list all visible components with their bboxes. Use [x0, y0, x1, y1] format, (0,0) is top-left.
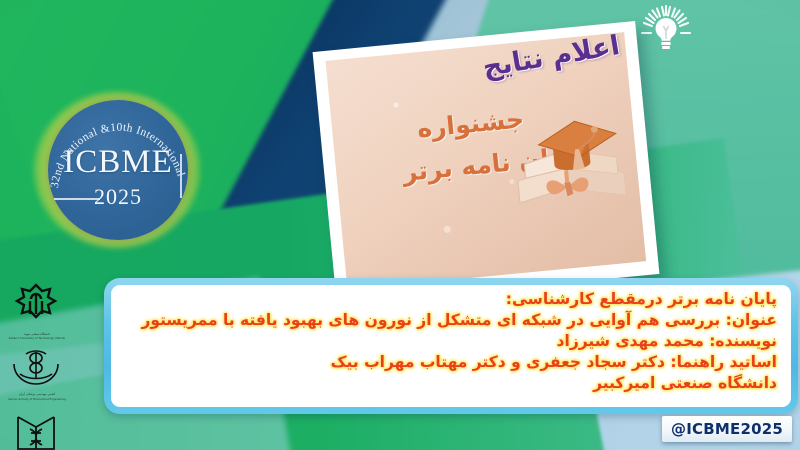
thesis-info-text-box: پایان نامه برتر درمقطع کارشناسی: عنوان: … [111, 285, 791, 407]
card-title-results-announcement: اعلام نتایج [480, 32, 622, 83]
photo-card-inner: اعلام نتایج جشنواره پایان نامه برتر [325, 32, 646, 290]
poster-canvas: 32nd National &10th International ICBME … [0, 0, 800, 450]
info-line-supervisors: اساتید راهنما: دکتر سجاد جعفری و دکتر مه… [125, 352, 777, 373]
logo-caption-en: Sahand University of Technology (Tabriz) [6, 336, 68, 340]
social-handle-label: @ICBME2025 [671, 420, 783, 438]
graduation-cap-on-books-icon [500, 84, 636, 223]
sahand-university-of-technology-logo: دانشگاه صنعتی سهند Sahand University of … [6, 280, 68, 340]
info-line-university: دانشگاه صنعتی امیرکبیر [125, 373, 777, 394]
seal-brand: ICBME [48, 146, 188, 179]
icbme-seal-logo: 32nd National &10th International ICBME … [34, 92, 200, 248]
social-handle-badge[interactable]: @ICBME2025 [662, 416, 792, 442]
seal-year: 2025 [48, 184, 188, 210]
info-line-title: عنوان: بررسی هم آوایی در شبکه ای متشکل ا… [125, 310, 777, 331]
caduceus-arc-icon [6, 348, 66, 388]
octagram-star-icon [6, 280, 66, 328]
logo-caption-en: Iranian Society of Biomedical Engineerin… [6, 397, 68, 401]
thesis-info-banner: پایان نامه برتر درمقطع کارشناسی: عنوان: … [104, 278, 798, 414]
lightbulb-icon [638, 4, 694, 60]
book-dna-icon [6, 409, 66, 450]
info-line-category: پایان نامه برتر درمقطع کارشناسی: [125, 289, 777, 310]
tabriz-university-of-medical-sciences-logo: دانشگاه علوم پزشکی تبریز Tabriz Universi… [6, 409, 68, 450]
info-line-author: نویسنده: محمد مهدی شیرزاد [125, 331, 777, 352]
sponsor-logo-column: دانشگاه صنعتی سهند Sahand University of … [6, 280, 68, 450]
iranian-society-for-biomedical-engineering-logo: انجمن مهندسی پزشکی ایران Iranian Society… [6, 348, 68, 400]
announcement-photo-card: اعلام نتایج جشنواره پایان نامه برتر [313, 21, 660, 305]
